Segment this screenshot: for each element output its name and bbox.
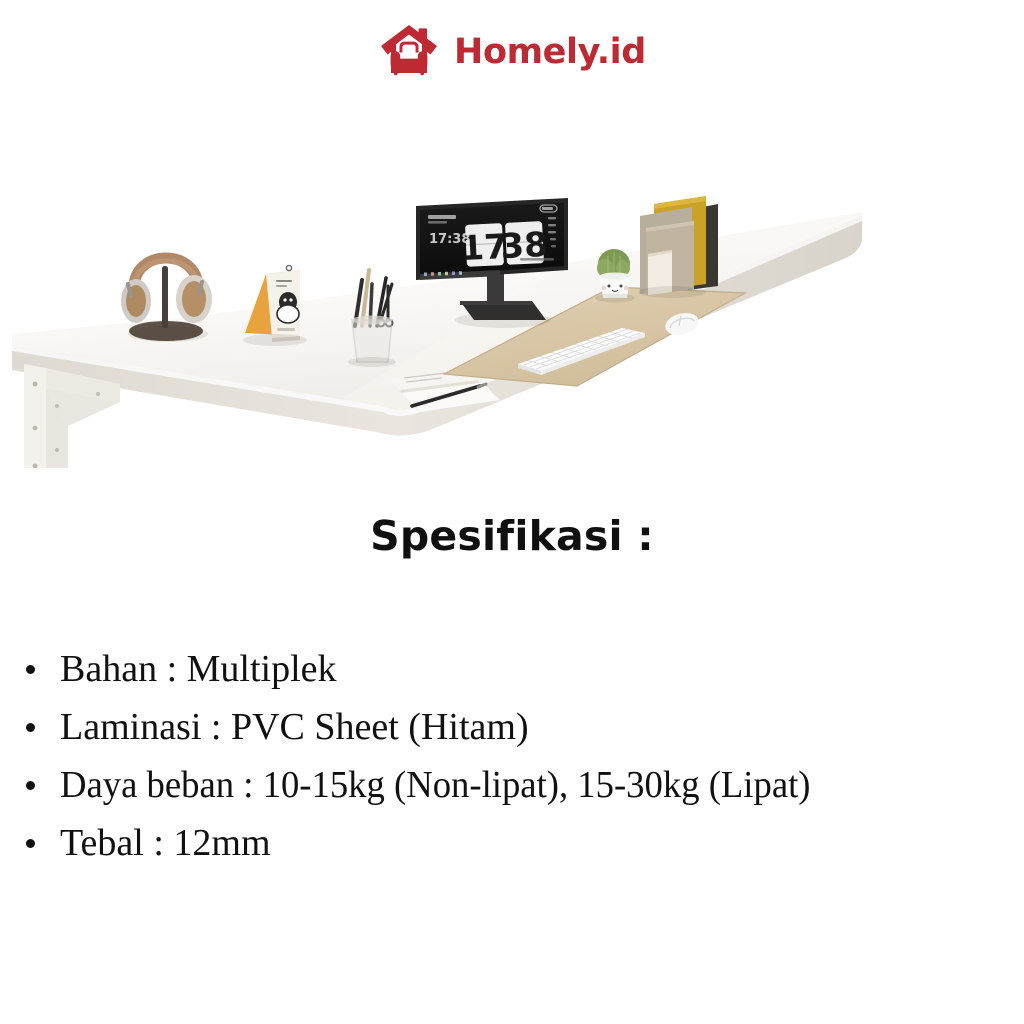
clock-display: 17 38 xyxy=(460,221,549,269)
house-armchair-icon xyxy=(378,24,440,82)
bullet-icon xyxy=(26,839,35,848)
brand-header: Homely.id xyxy=(0,20,1024,86)
spec-item-laminasi: Laminasi : PVC Sheet (Hitam) xyxy=(0,698,1024,756)
spec-item-daya-beban: Daya beban : 10-15kg (Non-lipat), 15-30k… xyxy=(0,756,1024,814)
specification-heading: Spesifikasi : xyxy=(0,512,1024,560)
spec-item-text: Daya beban : 10-15kg (Non-lipat), 15-30k… xyxy=(60,756,811,814)
spec-item-text: Tebal : 12mm xyxy=(60,814,271,872)
spec-item-tebal: Tebal : 12mm xyxy=(0,814,1024,872)
bullet-icon xyxy=(26,781,35,790)
spec-item-text: Bahan : Multiplek xyxy=(60,640,337,698)
desk-scene-illustration: 17 38 17:38 xyxy=(0,88,1024,468)
specification-list: Bahan : Multiplek Laminasi : PVC Sheet (… xyxy=(0,640,1024,872)
bullet-icon xyxy=(26,665,35,674)
brand-name: Homely.id xyxy=(454,35,646,72)
svg-text:38: 38 xyxy=(500,225,549,267)
bullet-icon xyxy=(26,723,35,732)
product-photo: 17 38 17:38 xyxy=(0,88,1024,468)
spec-item-bahan: Bahan : Multiplek xyxy=(0,640,1024,698)
svg-text:17:38: 17:38 xyxy=(429,232,470,247)
spec-item-text: Laminasi : PVC Sheet (Hitam) xyxy=(60,698,529,756)
product-listing-page: Homely.id xyxy=(0,0,1024,1024)
